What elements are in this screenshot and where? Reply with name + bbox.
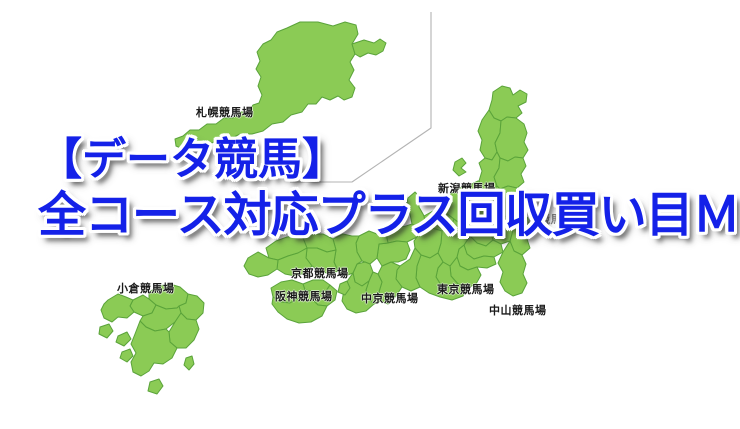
course-label-kyoto: 京都競馬場 [291,269,349,280]
banner-title-line-2: 全コース対応プラス回収買い目ＭＡＰ [38,190,728,242]
course-label-hanshin: 阪神競馬場 [275,292,333,303]
island-kyushu-west [120,349,133,362]
region-kyushu-nagasaki [101,294,134,322]
island-nagasaki-2 [99,324,113,338]
region-hokkaido [175,22,358,149]
banner-title: 【データ競馬】 全コース対応プラス回収買い目ＭＡＰ [38,136,728,241]
island-tanegashima [184,356,194,370]
course-label-kokura: 小倉競馬場 [117,284,175,295]
course-label-sapporo: 札幌競馬場 [196,108,254,119]
island-nagasaki-3 [116,332,131,346]
island-kagoshima-south [148,379,163,394]
course-label-chukyo: 中京競馬場 [361,294,419,305]
course-label-tokyo: 東京競馬場 [437,285,495,296]
region-tohoku-aomori [489,86,527,121]
course-label-nakayama: 中山競馬場 [489,306,547,317]
banner-title-line-1: 【データ競馬】 [38,136,728,184]
map-banner: 札幌競馬場 新潟競馬場 福島競馬場 小倉競馬場 京都競馬場 阪神競馬場 中京競馬… [0,0,740,429]
region-hokkaido-east [352,39,386,57]
